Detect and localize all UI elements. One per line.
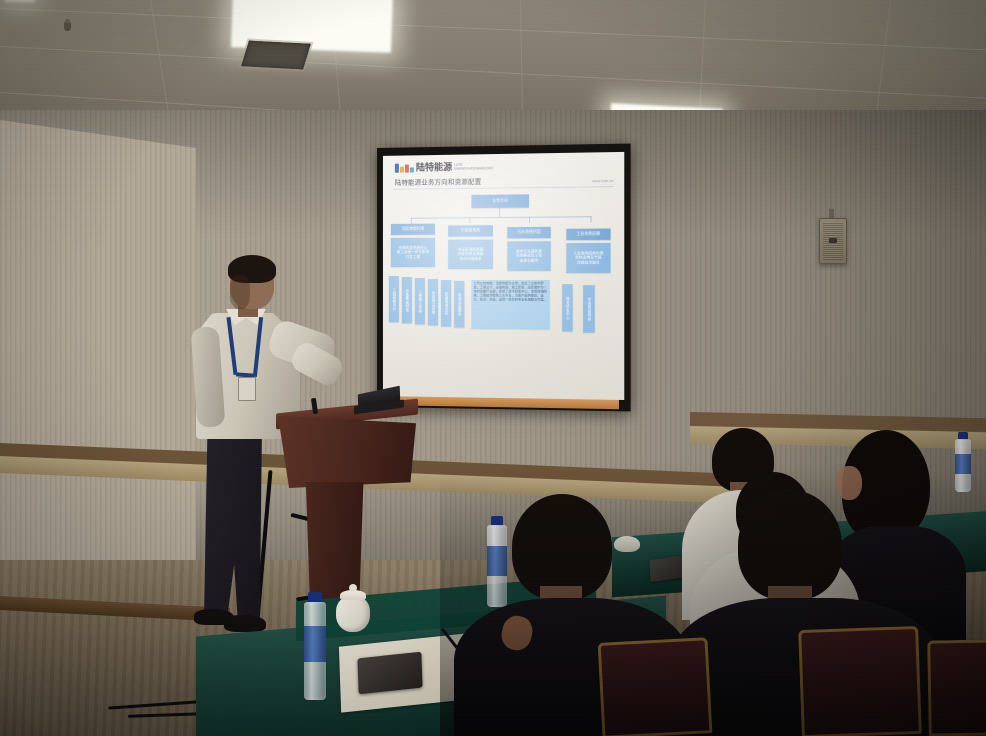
projection-screen: 陆特能源 LUTE ENERGY\nTECHNOLOGY 陆特能源业务方向和资源… (377, 144, 631, 412)
slide-vertical-box: 系统调试运维 (428, 279, 438, 325)
ceiling-light-panel (5, 0, 35, 2)
air-vent (241, 41, 311, 70)
teapot-knob (349, 584, 357, 592)
slide-vertical-box: 市场营销网络 (583, 285, 595, 332)
left-wall (0, 120, 196, 620)
presenter-face-shadow (230, 275, 250, 309)
slide-vertical-box: 技术研发中心 (562, 284, 572, 331)
slide-vertical-box: 工程施工安装 (415, 278, 425, 324)
sprinkler-head (64, 22, 71, 31)
slide-column-header: 中深层地热 (448, 225, 493, 236)
logo-mark-icon (395, 163, 414, 172)
slide-vertical-box: 能源管理合同 (441, 280, 451, 326)
presenter-trousers (204, 428, 262, 618)
projected-slide: 陆特能源 LUTE ENERGY\nTECHNOLOGY 陆特能源业务方向和资源… (383, 152, 624, 400)
microphone (311, 398, 318, 415)
slide-column-body: 地源热泵系统设计 施工运维一体化服务 打井工程 (391, 238, 435, 267)
slide-column-body: 城市污水源热泵 系统集成及工程 总承包服务 (507, 241, 550, 271)
slide-url: www.lute.cn (592, 179, 613, 183)
presenter-shoe (224, 615, 266, 632)
slide-column-body: 工业余热回收利用 余热发电及节能 改造技术服务 (566, 243, 610, 273)
slide-divider (393, 186, 614, 190)
slide-column-header: 工业余热回收 (566, 228, 610, 240)
podium-front-panel (278, 416, 416, 488)
wall-speaker (819, 218, 847, 264)
teapot (336, 596, 370, 632)
logo-subtext: LUTE ENERGY\nTECHNOLOGY (454, 164, 480, 171)
slide-column-body: 中深层地热资源 开发利用及梯级 综合利用技术 (448, 239, 493, 269)
slide-column-header: 浅层地能利用 (391, 224, 435, 235)
slide-paragraph-box: 公司以地热能、浅层地能为主导，建立了以技术研发、工程设计、设备制造、施工安装、运… (472, 280, 550, 329)
slide-vertical-box: 工程勘察设计 (389, 276, 399, 322)
banquet-chair (798, 626, 922, 736)
slide-logo: 陆特能源 LUTE ENERGY\nTECHNOLOGY (395, 162, 481, 172)
slide-vertical-box: 设备集成制造 (402, 277, 412, 323)
slide-top-box: 业务方向 (472, 194, 529, 208)
phone (357, 652, 422, 695)
water-bottle (302, 592, 328, 702)
slide-title: 陆特能源业务方向和资源配置 (395, 177, 481, 187)
presenter-id-badge (238, 377, 256, 401)
bottle-label (304, 626, 326, 662)
logo-text: 陆特能源 (416, 163, 452, 173)
slide-vertical-box: 投资运营服务 (454, 281, 464, 328)
banquet-chair (927, 639, 986, 736)
slide-column-header: 污水余热利用 (507, 227, 550, 238)
banquet-chair (598, 637, 713, 736)
attendee-head (738, 490, 842, 600)
attendee-head (512, 494, 612, 600)
conference-room-photo: 陆特能源 LUTE ENERGY\nTECHNOLOGY 陆特能源业务方向和资源… (0, 0, 986, 736)
